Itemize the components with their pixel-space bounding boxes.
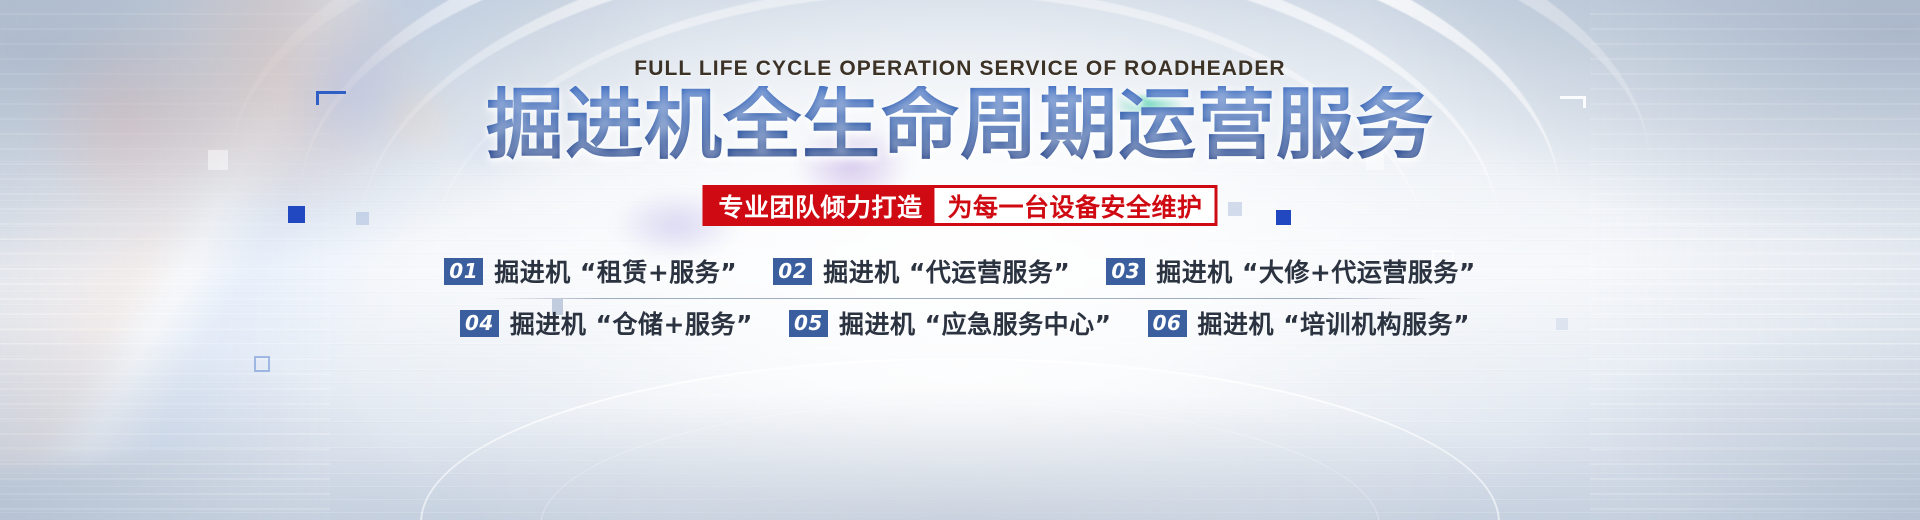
service-item-05[interactable]: 05 掘进机 “应急服务中心” (789, 305, 1112, 341)
service-label: 掘进机 “代运营服务” (823, 253, 1070, 289)
service-label: 掘进机 “仓储+服务” (510, 305, 753, 341)
service-item-04[interactable]: 04 掘进机 “仓储+服务” (460, 305, 753, 341)
service-number-badge: 01 (444, 258, 483, 285)
service-label: 掘进机 “培训机构服务” (1198, 305, 1471, 341)
service-number-badge: 03 (1106, 258, 1145, 285)
service-item-06[interactable]: 06 掘进机 “培训机构服务” (1148, 305, 1471, 341)
service-number-badge: 06 (1148, 310, 1187, 337)
service-number-badge: 02 (773, 258, 812, 285)
service-label: 掘进机 “租赁+服务” (494, 253, 737, 289)
service-item-02[interactable]: 02 掘进机 “代运营服务” (773, 253, 1070, 289)
tagline-left: 专业团队倾力打造 (705, 188, 934, 223)
service-row-bottom: 04 掘进机 “仓储+服务” 05 掘进机 “应急服务中心” 06 掘进机 “培… (460, 297, 1460, 349)
service-item-03[interactable]: 03 掘进机 “大修+代运营服务” (1106, 253, 1476, 289)
service-item-01[interactable]: 01 掘进机 “租赁+服务” (444, 253, 737, 289)
service-label: 掘进机 “应急服务中心” (839, 305, 1112, 341)
page-title: 掘进机全生命周期运营服务 (0, 86, 1920, 164)
tagline-right: 为每一台设备安全维护 (935, 188, 1215, 223)
roadheader-service-banner: FULL LIFE CYCLE OPERATION SERVICE OF ROA… (0, 0, 1920, 520)
service-list: 01 掘进机 “租赁+服务” 02 掘进机 “代运营服务” 03 掘进机 “大修… (460, 245, 1460, 349)
service-number-badge: 04 (460, 310, 499, 337)
eyebrow-english-subtitle: FULL LIFE CYCLE OPERATION SERVICE OF ROA… (0, 57, 1920, 81)
service-row-top: 01 掘进机 “租赁+服务” 02 掘进机 “代运营服务” 03 掘进机 “大修… (460, 245, 1460, 297)
banner-content: FULL LIFE CYCLE OPERATION SERVICE OF ROA… (0, 0, 1920, 520)
service-number-badge: 05 (789, 310, 828, 337)
service-label: 掘进机 “大修+代运营服务” (1156, 253, 1476, 289)
tagline-bar: 专业团队倾力打造 为每一台设备安全维护 (702, 185, 1217, 226)
